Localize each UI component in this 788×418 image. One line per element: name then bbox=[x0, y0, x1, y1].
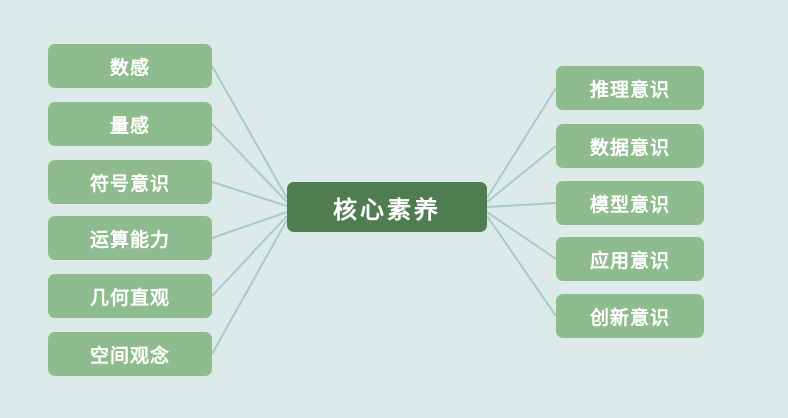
connector-line bbox=[212, 66, 287, 198]
connector-line bbox=[212, 216, 287, 296]
connector-line bbox=[487, 212, 556, 259]
connector-line bbox=[487, 216, 556, 316]
mindmap-canvas: 数感量感符号意识运算能力几何直观空间观念推理意识数据意识模型意识应用意识创新意识… bbox=[0, 0, 788, 418]
mindmap-node-left-4[interactable]: 运算能力 bbox=[48, 216, 212, 260]
connector-line bbox=[212, 124, 287, 202]
mindmap-node-right-5[interactable]: 创新意识 bbox=[556, 294, 704, 338]
mindmap-node-right-1[interactable]: 推理意识 bbox=[556, 66, 704, 110]
connector-line bbox=[487, 88, 556, 198]
mindmap-node-left-5[interactable]: 几何直观 bbox=[48, 274, 212, 318]
mindmap-node-right-2[interactable]: 数据意识 bbox=[556, 124, 704, 168]
connector-line bbox=[212, 182, 287, 206]
connector-line bbox=[212, 212, 287, 238]
connector-line bbox=[487, 203, 556, 207]
mindmap-node-right-3[interactable]: 模型意识 bbox=[556, 181, 704, 225]
mindmap-node-left-6[interactable]: 空间观念 bbox=[48, 332, 212, 376]
mindmap-node-left-2[interactable]: 量感 bbox=[48, 102, 212, 146]
mindmap-node-left-1[interactable]: 数感 bbox=[48, 44, 212, 88]
connector-line bbox=[487, 146, 556, 202]
mindmap-node-right-4[interactable]: 应用意识 bbox=[556, 237, 704, 281]
connector-line bbox=[212, 220, 287, 354]
mindmap-center-node[interactable]: 核心素养 bbox=[287, 182, 487, 232]
mindmap-node-left-3[interactable]: 符号意识 bbox=[48, 160, 212, 204]
